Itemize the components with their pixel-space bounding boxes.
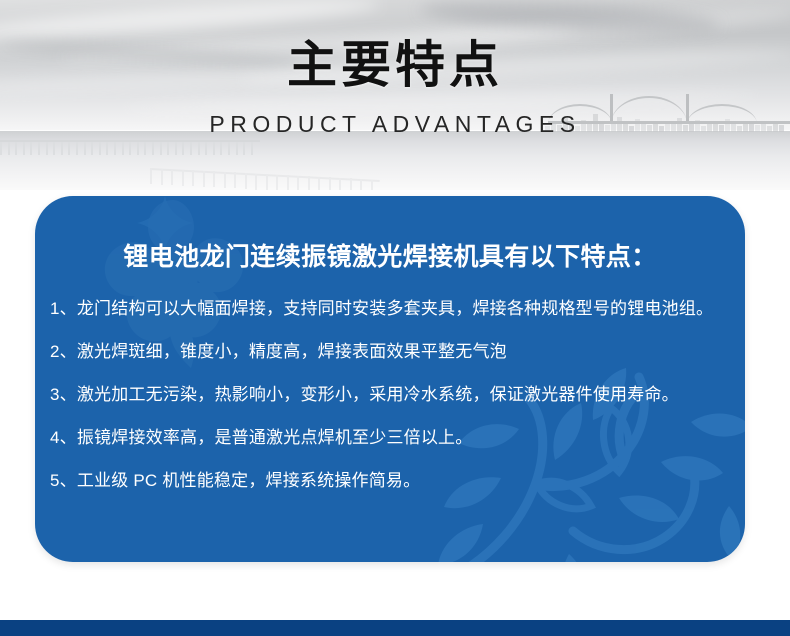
railing-post xyxy=(150,168,152,184)
railing-post xyxy=(350,178,352,190)
viaduct-pier xyxy=(68,142,70,155)
viaduct-pier xyxy=(160,142,162,155)
railing-post xyxy=(245,173,247,189)
railing-post xyxy=(287,175,289,190)
feature-list: 1、龙门结构可以大幅面焊接，支持同时安装多套夹具，焊接各种规格型号的锂电池组。2… xyxy=(50,297,740,512)
viaduct-pier xyxy=(23,142,25,155)
railing-post xyxy=(203,171,205,187)
viaduct-pier xyxy=(182,142,184,155)
viaduct-pier xyxy=(213,142,215,155)
viaduct-pier xyxy=(251,142,253,155)
viaduct-pier xyxy=(129,142,131,155)
panel-heading: 锂电池龙门连续振镜激光焊接机具有以下特点： xyxy=(60,240,720,274)
viaduct-pier xyxy=(144,142,146,155)
viaduct-pier xyxy=(175,142,177,155)
railing-post xyxy=(224,172,226,188)
feature-item: 4、振镜焊接效率高，是普通激光点焊机至少三倍以上。 xyxy=(50,426,740,469)
viaduct-pier xyxy=(61,142,63,155)
viaduct-pier xyxy=(46,142,48,155)
viaduct xyxy=(0,140,260,162)
page-title: 主要特点 xyxy=(0,36,790,94)
viaduct-pier xyxy=(53,142,55,155)
viaduct-pier xyxy=(243,142,245,155)
railing-post xyxy=(371,180,373,190)
railing-post xyxy=(182,170,184,186)
railing-post xyxy=(192,170,194,186)
viaduct-pier xyxy=(205,142,207,155)
footer-bar xyxy=(0,620,790,636)
viaduct-pier xyxy=(8,142,10,155)
viaduct-pier xyxy=(236,142,238,155)
feature-item: 1、龙门结构可以大幅面焊接，支持同时安装多套夹具，焊接各种规格型号的锂电池组。 xyxy=(50,297,740,340)
railing-post xyxy=(276,175,278,190)
viaduct-pier xyxy=(99,142,101,155)
railing-post xyxy=(308,176,310,190)
feature-item: 3、激光加工无污染，热影响小，变形小，采用冷水系统，保证激光器件使用寿命。 xyxy=(50,383,740,426)
beach-railing xyxy=(150,168,380,190)
railing-post xyxy=(339,178,341,190)
railing-post xyxy=(213,171,215,187)
railing-post xyxy=(266,174,268,190)
viaduct-pier xyxy=(0,142,2,155)
viaduct-pier xyxy=(30,142,32,155)
viaduct-pier xyxy=(190,142,192,155)
railing-post xyxy=(171,169,173,185)
viaduct-pier xyxy=(198,142,200,155)
viaduct-pier xyxy=(106,142,108,155)
railing-post xyxy=(360,179,362,190)
viaduct-pier xyxy=(91,142,93,155)
viaduct-pier xyxy=(84,142,86,155)
viaduct-pier xyxy=(228,142,230,155)
viaduct-pier xyxy=(114,142,116,155)
viaduct-pier xyxy=(137,142,139,155)
railing-post xyxy=(161,169,163,185)
railing-post xyxy=(318,177,320,190)
viaduct-pier xyxy=(220,142,222,155)
railing-post xyxy=(329,177,331,190)
viaduct-pier xyxy=(152,142,154,155)
viaduct-pier xyxy=(15,142,17,155)
features-panel: 锂电池龙门连续振镜激光焊接机具有以下特点： 1、龙门结构可以大幅面焊接，支持同时… xyxy=(35,196,745,562)
feature-item: 5、工业级 PC 机性能稳定，焊接系统操作简易。 xyxy=(50,469,740,512)
railing-post xyxy=(255,174,257,190)
railing-post xyxy=(234,172,236,188)
feature-item: 2、激光焊斑细，锥度小，精度高，焊接表面效果平整无气泡 xyxy=(50,340,740,383)
viaduct-pier xyxy=(122,142,124,155)
header-banner: 主要特点 PRODUCT ADVANTAGES xyxy=(0,0,790,190)
viaduct-pier xyxy=(76,142,78,155)
viaduct-pier xyxy=(167,142,169,155)
viaduct-pier xyxy=(38,142,40,155)
railing-post xyxy=(297,176,299,190)
page-subtitle: PRODUCT ADVANTAGES xyxy=(0,110,790,138)
